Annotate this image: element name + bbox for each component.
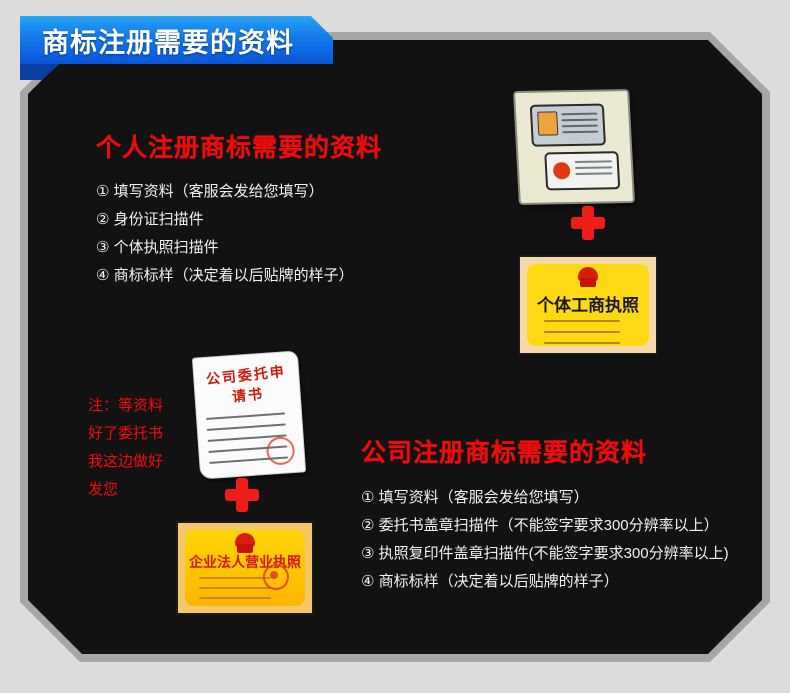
document-title: 公司委托申 请书	[193, 360, 301, 411]
id-card-scan-illustration	[513, 89, 635, 205]
license-inner-panel: 个体工商执照	[527, 264, 649, 346]
company-business-license-illustration: 企业法人营业执照	[176, 521, 314, 615]
list-item: ③ 执照复印件盖章扫描件(不能签字要求300分辨率以上)	[361, 540, 729, 568]
list-item: ③ 个体执照扫描件	[96, 234, 354, 262]
list-item: ④ 商标标样（决定着以后贴牌的样子）	[96, 262, 354, 290]
company-section-heading: 公司注册商标需要的资料	[361, 433, 647, 469]
red-seal-icon	[263, 564, 289, 590]
title-banner: 商标注册需要的资料	[20, 16, 333, 64]
license-title: 个体工商执照	[527, 291, 649, 316]
plus-icon	[571, 206, 605, 240]
license-inner-panel: 企业法人营业执照	[185, 530, 305, 606]
note-line: 好了委托书	[88, 420, 163, 448]
individual-business-license-illustration: 个体工商执照	[518, 255, 658, 355]
id-card-front-icon	[530, 104, 606, 147]
national-emblem-icon	[576, 267, 600, 289]
license-text-lines	[199, 577, 271, 607]
company-requirements-list: ① 填写资料（客服会发给您填写） ② 委托书盖章扫描件（不能签字要求300分辨率…	[361, 484, 729, 596]
list-item: ④ 商标标样（决定着以后贴牌的样子）	[361, 568, 729, 596]
personal-section-heading: 个人注册商标需要的资料	[96, 128, 382, 164]
list-item: ① 填写资料（客服会发给您填写）	[96, 178, 354, 206]
list-item: ② 身份证扫描件	[96, 206, 354, 234]
list-item: ① 填写资料（客服会发给您填写）	[361, 484, 729, 512]
note-line: 注：等资料	[88, 392, 163, 420]
license-text-lines	[544, 320, 620, 353]
plus-icon	[225, 478, 259, 512]
note-text: 注：等资料 好了委托书 我这边做好 发您	[88, 392, 163, 504]
id-card-text-lines	[561, 113, 598, 138]
authorization-application-document-illustration: 公司委托申 请书	[192, 350, 306, 479]
portrait-photo-icon	[537, 111, 558, 135]
page-title: 商标注册需要的资料	[42, 21, 294, 60]
id-card-back-text-lines	[575, 160, 613, 179]
list-item: ② 委托书盖章扫描件（不能签字要求300分辨率以上）	[361, 512, 729, 540]
personal-requirements-list: ① 填写资料（客服会发给您填写） ② 身份证扫描件 ③ 个体执照扫描件 ④ 商标…	[96, 178, 354, 290]
id-card-back-icon	[544, 151, 620, 190]
note-line: 我这边做好	[88, 448, 163, 476]
note-line: 发您	[88, 476, 163, 504]
license-title: 企业法人营业执照	[185, 552, 305, 572]
national-emblem-icon	[553, 162, 571, 179]
